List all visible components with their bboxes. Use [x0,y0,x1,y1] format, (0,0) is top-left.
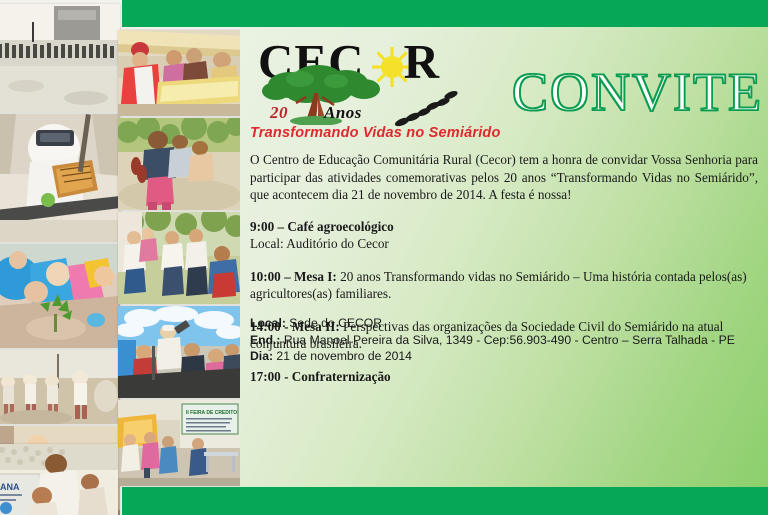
footer-local-value: Sede do CECOR [286,316,382,330]
cecor-tagline: Transformando Vidas no Semiárido [250,125,501,141]
cecor-logo: CECOR [248,35,474,143]
anniversary-word: Anos [324,103,362,122]
photo-woman-children-running [118,118,240,210]
top-green-bar [122,0,768,27]
bottom-green-bar [122,487,768,515]
photo-field-workers [0,350,120,424]
photo-man-with-children: ANA [0,444,118,515]
footer-endereco-value: Rua Manoel Pereira da Silva, 1349 - Cep:… [280,333,734,347]
content-panel: CECOR [240,27,768,487]
photo-crowd-demonstration [118,306,240,398]
schedule-item-0-label: 9:00 – Café agroecológico [250,219,394,234]
photo-group-outdoors [118,212,240,304]
photo-market-fair [118,30,240,116]
footer-dia-key: Dia: [250,349,273,363]
photo-planting-children [0,244,120,348]
schedule-item-0: 9:00 – Café agroecológico [250,218,758,236]
cecor-wordmark-post: R [404,34,440,89]
footer-local-key: Local: [250,316,286,330]
footer-local: Local: Sede do CECOR [250,315,758,332]
svg-text:II FEIRA DE CREDITO: II FEIRA DE CREDITO [186,410,237,416]
footer-endereco: End.: Rua Manoel Pereira da Silva, 1349 … [250,332,758,349]
footsteps-icon [393,91,463,127]
convite-title: CONVITE [512,61,763,123]
photo-beekeeper [0,114,120,242]
schedule-item-1-label: 10:00 – Mesa I: [250,269,337,284]
photo-historic-crowd-bw [0,4,120,112]
invitation-page: ANA [0,0,768,515]
photo-street-fair-banner: II FEIRA DE CREDITO [118,400,240,486]
footer-dia: Dia: 21 de novembro de 2014 [250,348,758,365]
svg-text:ANA: ANA [0,482,20,492]
schedule-item-0-sub: Local: Auditório do Cecor [250,235,758,253]
footer-endereco-key: End.: [250,333,280,347]
schedule-item-3: 17:00 - Confraternização [250,368,758,386]
header-row: CECOR [240,27,768,147]
photo-collage: ANA [0,0,240,515]
anniversary-label: 20Anos [270,103,362,123]
intro-paragraph: O Centro de Educação Comunitária Rural (… [250,151,758,204]
schedule-item-1: 10:00 – Mesa I: 20 anos Transformando vi… [250,268,758,303]
footer-details: Local: Sede do CECOR End.: Rua Manoel Pe… [250,315,758,365]
schedule-item-3-label: 17:00 - Confraternização [250,369,391,384]
footer-dia-value: 21 de novembro de 2014 [273,349,412,363]
anniversary-number: 20 [270,103,288,122]
